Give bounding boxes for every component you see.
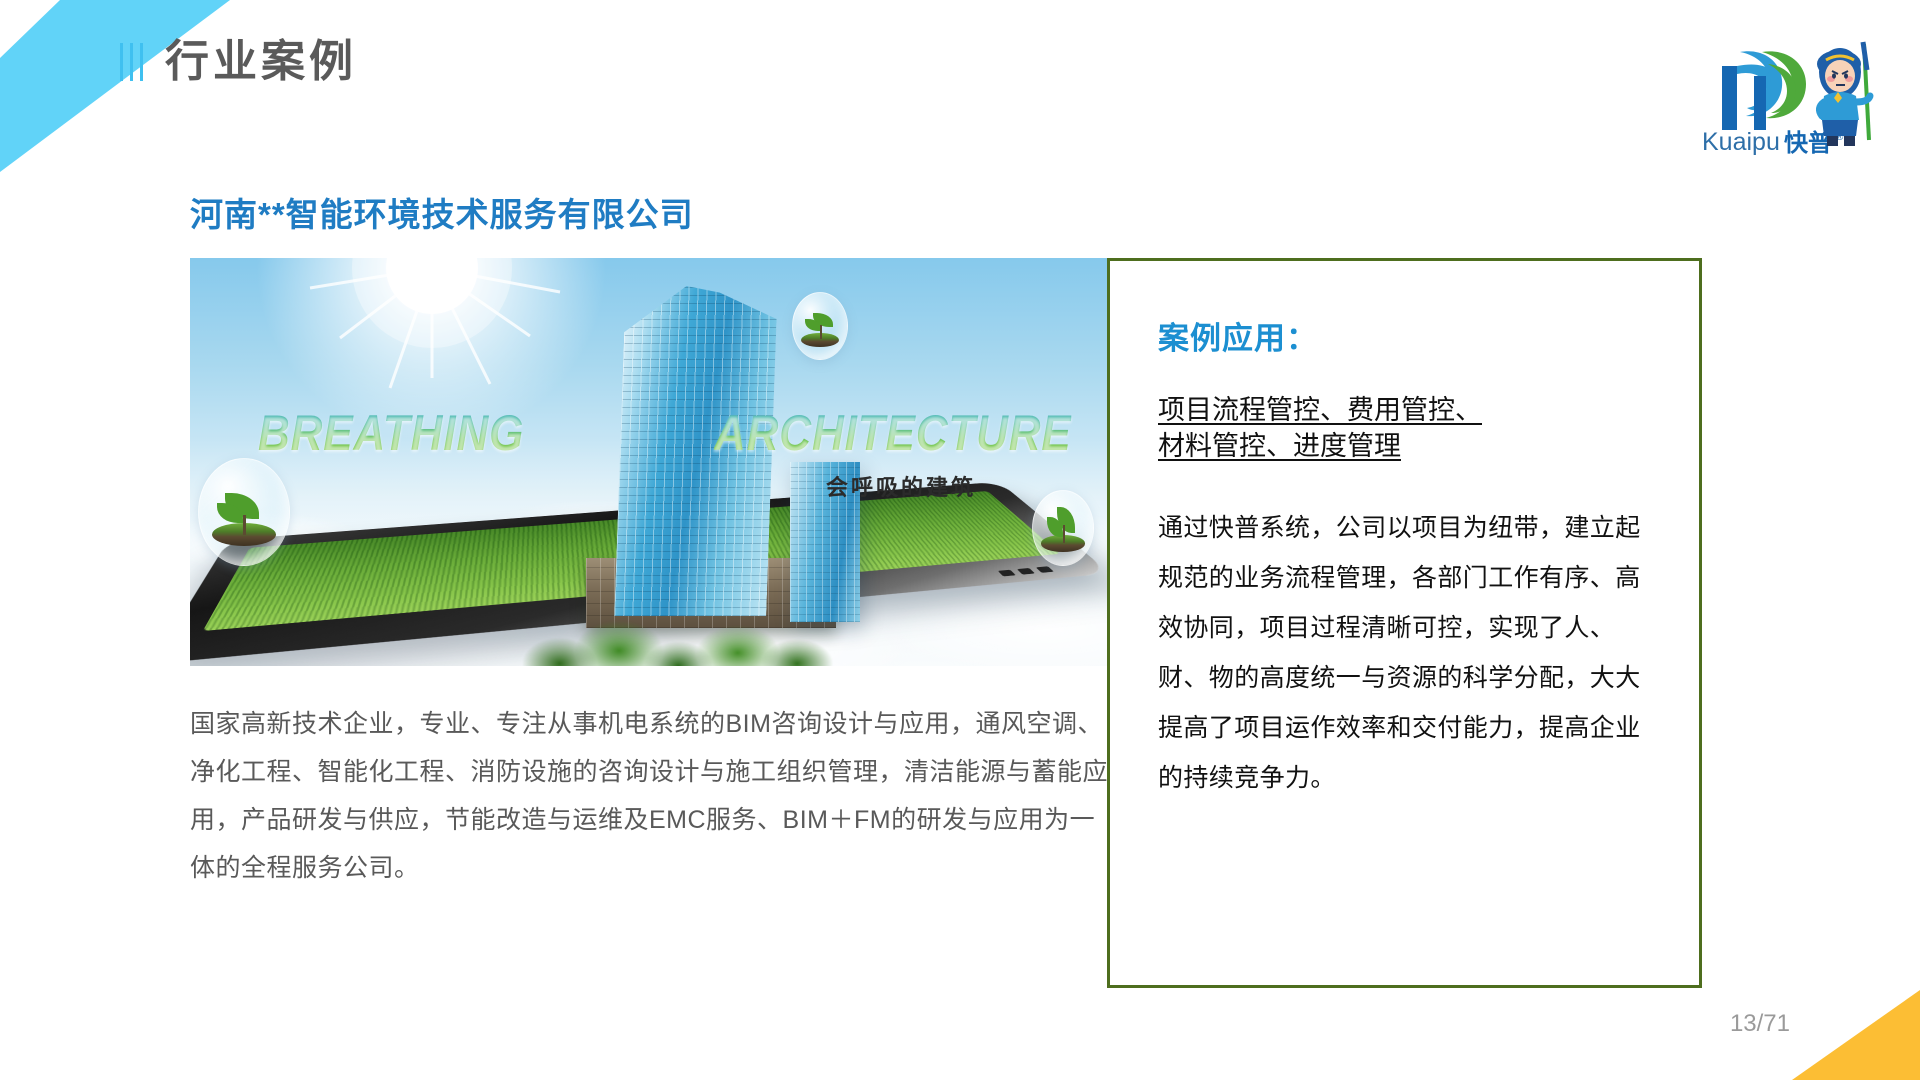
- panel-key-line-1: 项目流程管控、费用管控、: [1158, 395, 1482, 425]
- slide-root: 行业案例 Kuaipu 快普 ®: [0, 0, 1920, 1080]
- hero-image: BREATHING ARCHITECTURE 会呼吸的建筑: [190, 258, 1118, 666]
- tree-foliage: [520, 588, 850, 666]
- kp-monogram-icon: [1722, 51, 1806, 130]
- company-name: 河南**智能环境技术服务有限公司: [190, 188, 694, 236]
- three-vertical-bars-icon: [120, 42, 143, 82]
- slide-header: 行业案例: [120, 40, 357, 84]
- panel-key-points: 项目流程管控、费用管控、 材料管控、进度管理: [1158, 392, 1663, 465]
- hero-headline-left: BREATHING: [258, 404, 524, 462]
- panel-key-line-2: 材料管控、进度管理: [1158, 431, 1401, 461]
- svg-text:Kuaipu: Kuaipu: [1702, 128, 1780, 156]
- page-title: 行业案例: [165, 40, 357, 84]
- kuaipu-logo: Kuaipu 快普 ®: [1688, 22, 1898, 162]
- case-application-panel: 案例应用： 项目流程管控、费用管控、 材料管控、进度管理 通过快普系统，公司以项…: [1107, 258, 1702, 988]
- plant-orb-left: [198, 458, 290, 566]
- hero-subheadline: 会呼吸的建筑: [826, 470, 976, 502]
- plant-orb-top: [792, 292, 848, 360]
- bottom-right-corner-triangle: [1760, 990, 1920, 1080]
- top-left-diagonal-band: [0, 0, 330, 200]
- panel-title: 案例应用：: [1158, 313, 1663, 358]
- panel-body-text: 通过快普系统，公司以项目为纽带，建立起规范的业务流程管理，各部门工作有序、高效协…: [1158, 503, 1663, 803]
- company-description: 国家高新技术企业，专业、专注从事机电系统的BIM咨询设计与应用，通风空调、净化工…: [190, 700, 1120, 892]
- plant-orb-right: [1032, 490, 1094, 566]
- logo-wordmark: Kuaipu: [1702, 128, 1780, 156]
- hero-headline-right: ARCHITECTURE: [714, 404, 1072, 462]
- kuaipu-mascot-icon: [1817, 42, 1870, 146]
